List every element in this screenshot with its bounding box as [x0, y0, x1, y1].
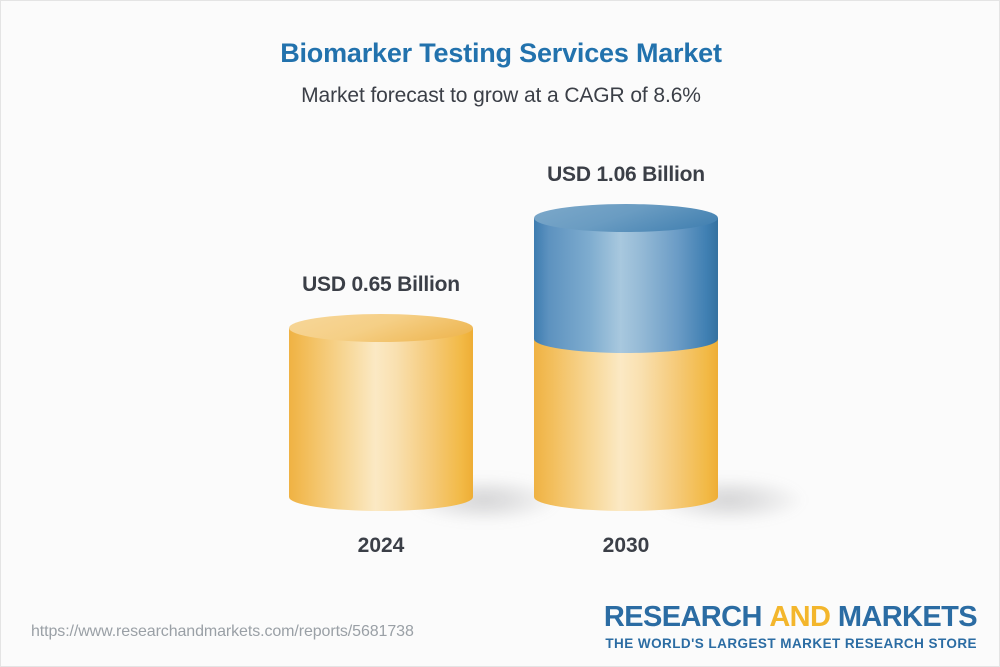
plot-area: USD 0.65 Billion 2024 USD 1.06 Billion: [1, 1, 999, 666]
bar-top-2030: [534, 204, 718, 232]
logo-research-text: RESEARCH: [604, 601, 762, 633]
research-and-markets-logo: RESEARCH AND MARKETS THE WORLD'S LARGEST…: [604, 601, 977, 651]
bar-top-2024: [289, 314, 473, 342]
bar-body-2030-yellow: [534, 339, 718, 497]
bar-base-2024: [289, 483, 473, 511]
bar-base-2030: [534, 483, 718, 511]
chart-canvas: Biomarker Testing Services Market Market…: [0, 0, 1000, 667]
bar-body-2030-blue: [534, 218, 718, 339]
bar-cylinder-2024: [289, 314, 473, 511]
logo-markets-text: MARKETS: [838, 601, 977, 633]
value-label-2024: USD 0.65 Billion: [231, 273, 531, 297]
category-label-2030: 2030: [476, 534, 776, 558]
value-label-2030: USD 1.06 Billion: [476, 163, 776, 187]
bar-segment-seam-2030: [534, 325, 718, 353]
report-url[interactable]: https://www.researchandmarkets.com/repor…: [31, 623, 414, 641]
bar-body-2024: [289, 328, 473, 497]
logo-tagline: THE WORLD'S LARGEST MARKET RESEARCH STOR…: [604, 636, 977, 651]
logo-and-text: AND: [762, 601, 838, 633]
logo-wordmark: RESEARCH AND MARKETS: [604, 601, 977, 634]
bar-cylinder-2030: [534, 204, 718, 511]
